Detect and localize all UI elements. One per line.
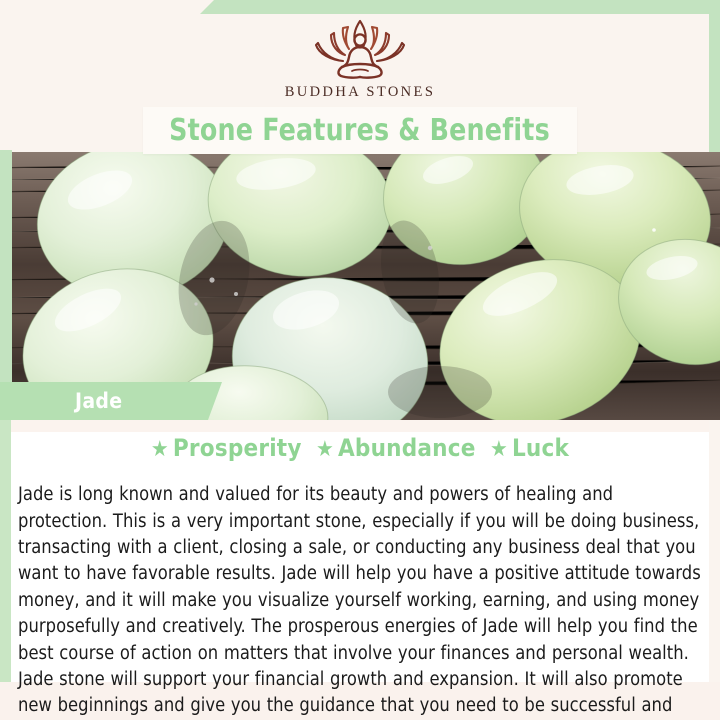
benefits-row: ★Prosperity ★Abundance ★Luck — [11, 434, 709, 462]
brand-name: BUDDHA STONES — [0, 84, 720, 101]
left-green-edge-strip-text — [0, 420, 11, 682]
jade-stones-illustration — [0, 152, 720, 420]
benefit-label: Abundance — [338, 434, 476, 462]
benefit-prosperity: ★Prosperity — [151, 434, 302, 462]
stone-features-infographic: BUDDHA STONES Stone Features & Benefits — [0, 0, 720, 720]
brand-logo-block: BUDDHA STONES — [0, 16, 720, 101]
panel-top-tint — [11, 420, 709, 432]
benefit-label: Luck — [512, 434, 569, 462]
stone-name: Jade — [75, 389, 122, 413]
star-icon: ★ — [151, 437, 169, 462]
jade-stones-photo — [0, 152, 720, 420]
description-panel: ★Prosperity ★Abundance ★Luck Jade is lon… — [11, 420, 709, 682]
top-green-accent-shape — [200, 0, 720, 14]
page-title: Stone Features & Benefits — [170, 113, 551, 148]
star-icon: ★ — [490, 437, 508, 462]
benefit-luck: ★Luck — [490, 434, 569, 462]
stone-description-text: Jade is long known and valued for its be… — [18, 482, 702, 720]
benefit-label: Prosperity — [173, 434, 302, 462]
star-icon: ★ — [316, 437, 334, 462]
benefit-abundance: ★Abundance — [316, 434, 476, 462]
lotus-meditation-icon — [304, 16, 416, 82]
stone-name-band: Jade — [0, 382, 222, 420]
left-green-edge-strip-photo — [0, 150, 12, 420]
title-banner: Stone Features & Benefits — [143, 107, 577, 154]
